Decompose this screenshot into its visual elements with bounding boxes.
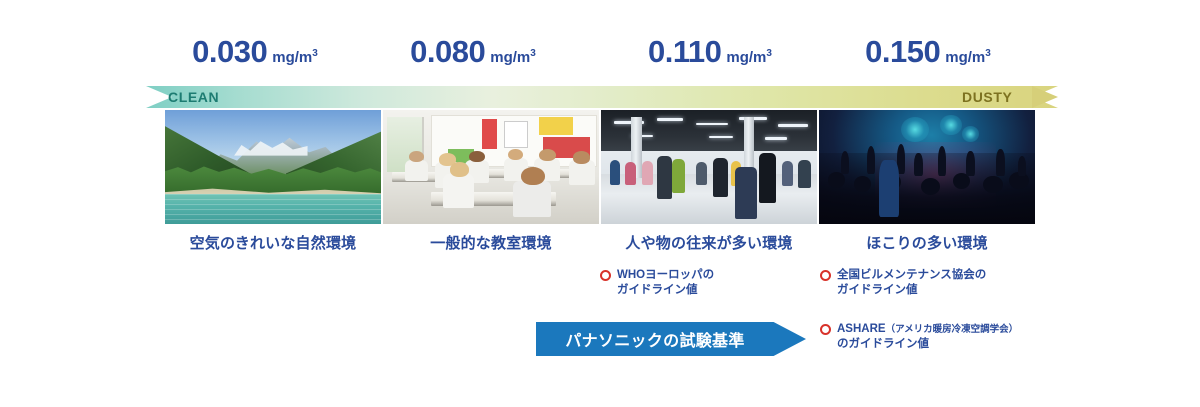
student-body-6 <box>569 160 595 185</box>
note-who-line1: WHOヨーロッパの <box>617 269 714 281</box>
bullet-circle-icon <box>820 324 831 335</box>
caption-3: ほこりの多い環境 <box>819 232 1035 253</box>
student-body-front <box>513 181 552 217</box>
concentration-value-1: 0.080 mg/m3 <box>364 36 582 82</box>
ceiling-light-3 <box>696 123 728 126</box>
student-head-4 <box>508 149 523 160</box>
student-body-front-2 <box>443 174 473 208</box>
concert-scene <box>819 110 1035 224</box>
audience-head-2 <box>854 176 871 192</box>
note-ashare-line1: ASHARE <box>837 323 886 335</box>
person-4 <box>657 156 672 199</box>
person-7 <box>713 158 728 197</box>
note-who-line2: ガイドライン値 <box>617 284 698 296</box>
note-who: WHOヨーロッパの ガイドライン値 <box>600 268 714 298</box>
caption-2: 人や物の往来が多い環境 <box>601 232 817 253</box>
concentration-unit-1: mg/m3 <box>490 50 536 65</box>
student-head-front-2 <box>450 162 469 177</box>
note-building-maintenance: 全国ビルメンテナンス協会の ガイドライン値 <box>820 268 986 298</box>
note-ashare-text: ASHARE（アメリカ暖房冷凍空調学会） のガイドライン値 <box>837 322 1018 352</box>
person-11 <box>798 160 811 187</box>
audience-head-1 <box>828 172 845 188</box>
student-body-1 <box>405 160 429 181</box>
note-ashare: ASHARE（アメリカ暖房冷凍空調学会） のガイドライン値 <box>820 322 1018 352</box>
concentration-unit-3: mg/m3 <box>945 50 991 65</box>
note-bm-line1: 全国ビルメンテナンス協会の <box>837 269 986 281</box>
concentration-unit-0: mg/m3 <box>272 50 318 65</box>
scale-label-dusty: DUSTY <box>962 88 1012 107</box>
raised-hand-5 <box>938 146 947 176</box>
raised-hand-7 <box>996 149 1005 176</box>
poster-red-1 <box>482 119 497 149</box>
caption-0: 空気のきれいな自然環境 <box>165 232 381 253</box>
raised-hand-4 <box>914 153 923 176</box>
concert-crowd-photo <box>819 110 1035 224</box>
ceiling-light-2 <box>657 118 683 121</box>
person-1 <box>610 160 621 185</box>
student-head-front <box>521 167 545 185</box>
concentration-value-2: 0.110 mg/m3 <box>601 36 819 82</box>
ceiling-light-5 <box>778 124 808 127</box>
person-10 <box>782 161 793 186</box>
student-head-6 <box>573 151 590 164</box>
person-9 <box>759 153 776 203</box>
stage-light-2 <box>940 115 962 136</box>
student-head-1 <box>409 151 424 162</box>
concentration-number-0: 0.030 <box>192 36 267 67</box>
note-building-maintenance-text: 全国ビルメンテナンス協会の ガイドライン値 <box>837 268 986 298</box>
poster-white <box>504 121 528 148</box>
concentration-number-1: 0.080 <box>410 36 485 67</box>
concentration-value-0: 0.030 mg/m3 <box>146 36 364 82</box>
stage-light-3 <box>962 126 979 142</box>
raised-hand-6 <box>966 151 975 176</box>
concentration-value-row: 0.030 mg/m3 0.080 mg/m3 0.110 mg/m3 0.15… <box>146 36 1058 82</box>
concentration-number-2: 0.110 <box>648 36 721 67</box>
poster-yellow <box>539 117 574 135</box>
bullet-circle-icon <box>820 270 831 281</box>
concourse-scene <box>601 110 817 224</box>
dust-concentration-infographic: 0.030 mg/m3 0.080 mg/m3 0.110 mg/m3 0.15… <box>0 0 1200 407</box>
clean-to-dusty-gradient-bar <box>146 86 1058 108</box>
panasonic-test-standard-banner: パナソニックの試験基準 <box>536 322 806 356</box>
raised-hand-1 <box>841 151 850 174</box>
audience-head-6 <box>983 176 1002 193</box>
note-ashare-paren: （アメリカ暖房冷凍空調学会） <box>886 324 1019 335</box>
person-2 <box>625 162 636 185</box>
river-water <box>165 194 381 224</box>
classroom-students-photo <box>383 110 599 224</box>
student-head-5 <box>539 149 556 162</box>
raised-hand-8 <box>1018 156 1027 177</box>
concentration-value-3: 0.150 mg/m3 <box>819 36 1037 82</box>
raised-hand-2 <box>867 146 876 173</box>
person-3 <box>642 161 653 185</box>
stage-light-1 <box>901 117 929 142</box>
note-who-text: WHOヨーロッパの ガイドライン値 <box>617 268 714 298</box>
note-bm-line2: ガイドライン値 <box>837 284 918 296</box>
ceiling-light-8 <box>765 137 787 139</box>
concentration-number-3: 0.150 <box>865 36 940 67</box>
classroom-scene <box>383 110 599 224</box>
bullet-circle-icon <box>600 270 611 281</box>
concentration-unit-2: mg/m3 <box>726 50 772 65</box>
nature-scene <box>165 110 381 224</box>
student-head-3 <box>469 151 484 162</box>
scale-label-clean: CLEAN <box>168 88 219 107</box>
busy-concourse-crowd-photo <box>601 110 817 224</box>
raised-arm-foreground <box>879 160 898 217</box>
caption-1: 一般的な教室環境 <box>383 232 599 253</box>
person-5 <box>672 159 685 193</box>
banner-label: パナソニックの試験基準 <box>536 322 774 356</box>
note-ashare-line2: のガイドライン値 <box>837 338 929 350</box>
nature-mountain-river-photo <box>165 110 381 224</box>
person-foreground <box>735 167 757 219</box>
person-6 <box>696 162 707 185</box>
